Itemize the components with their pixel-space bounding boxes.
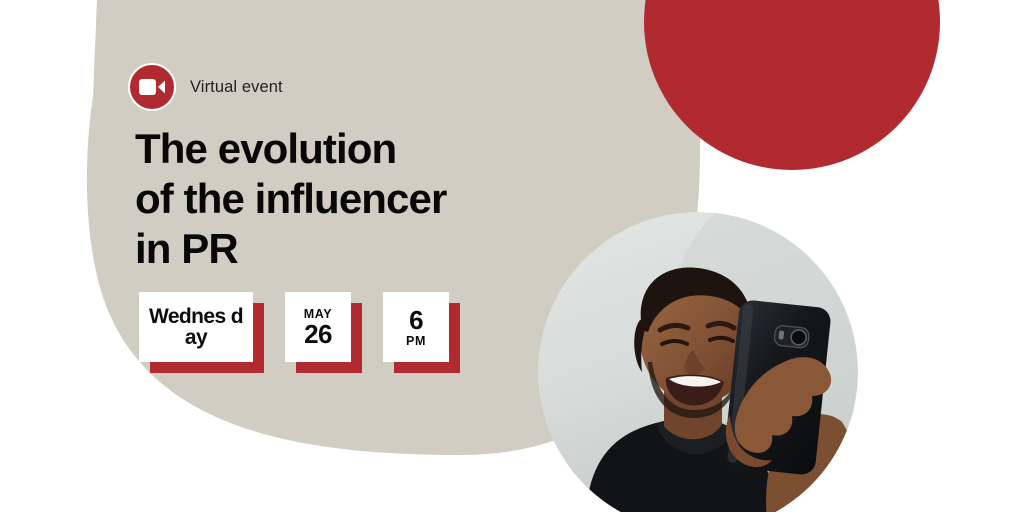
event-schedule-cards: Wednes day MAY 26 6 PM	[139, 292, 449, 362]
headline-line-3: in PR	[135, 224, 446, 274]
headline-line-2: of the influencer	[135, 174, 446, 224]
card-face: Wednes day	[139, 292, 253, 362]
event-poster: Virtual event The evolution of the influ…	[0, 0, 1024, 512]
headline-line-1: The evolution	[135, 124, 446, 174]
speaker-photo-illustration	[538, 212, 858, 512]
video-camera-glyph	[139, 79, 165, 95]
card-face: MAY 26	[285, 292, 351, 362]
virtual-event-badge: Virtual event	[128, 63, 283, 111]
speaker-photo	[538, 212, 858, 512]
event-meridiem-label: PM	[406, 334, 426, 348]
event-day-text: Wednes day	[145, 306, 247, 348]
card-face: 6 PM	[383, 292, 449, 362]
page-title: The evolution of the influencer in PR	[135, 124, 446, 274]
phone-camera-lens	[790, 329, 806, 345]
event-time-card: 6 PM	[383, 292, 449, 362]
virtual-event-label: Virtual event	[190, 78, 283, 97]
event-day-number: 26	[304, 321, 332, 348]
photo-content	[538, 212, 858, 512]
event-day-card: Wednes day	[139, 292, 253, 362]
event-hour-number: 6	[409, 307, 423, 334]
event-date-card: MAY 26	[285, 292, 351, 362]
video-camera-icon	[128, 63, 176, 111]
